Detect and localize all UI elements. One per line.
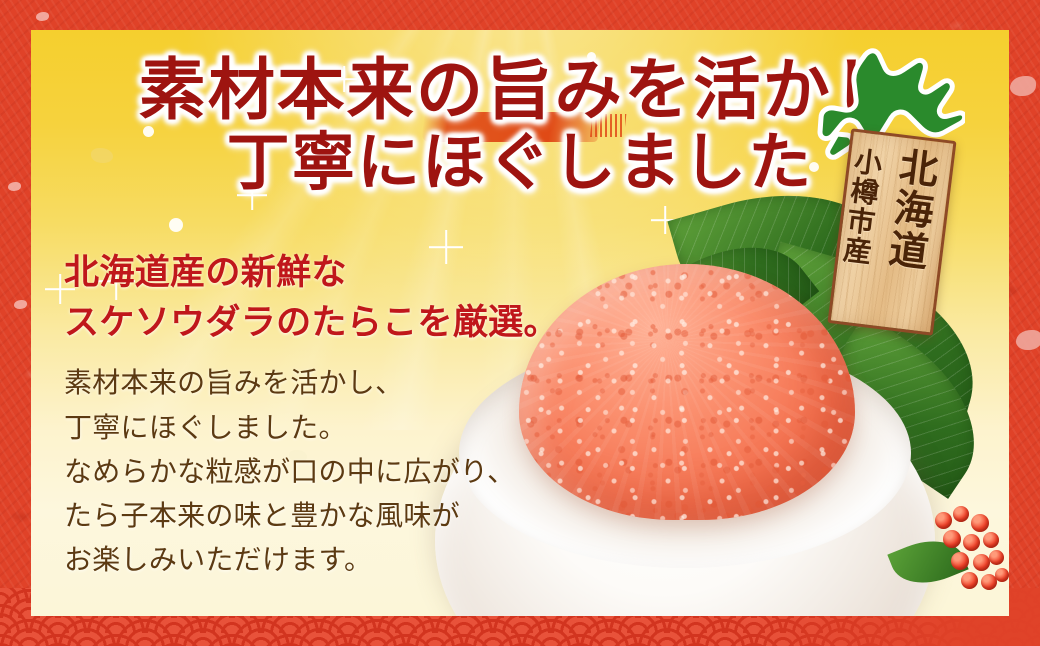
copy-block: 北海道産の新鮮な スケソウダラのたらこを厳選。 素材本来の旨みを活かし、 丁寧に…	[64, 248, 559, 583]
origin-badge: 北海道 小樽市産	[809, 46, 999, 376]
origin-wood-tag: 北海道 小樽市産	[827, 128, 956, 335]
lead-line-1: 北海道産の新鮮な	[64, 248, 559, 298]
ikura-bead	[943, 530, 961, 548]
description-line-2: 丁寧にほぐしました。	[64, 406, 559, 450]
lead-line-2: スケソウダラのたらこを厳選。	[64, 298, 559, 348]
ikura-bead	[973, 554, 990, 571]
product-banner: 素材本来の旨みを活かし 丁寧にほぐしました 北海道産の新鮮な スケソウダラのたら…	[0, 0, 1040, 646]
ikura-bead	[961, 572, 978, 589]
ikura-bead	[935, 512, 952, 529]
description-line-1: 素材本来の旨みを活かし、	[64, 361, 559, 405]
bokeh-dot	[169, 218, 183, 232]
ikura-bead	[971, 514, 989, 532]
content-panel: 素材本来の旨みを活かし 丁寧にほぐしました 北海道産の新鮮な スケソウダラのたら…	[31, 30, 1009, 616]
ikura-bead	[989, 550, 1004, 565]
description-line-4: たら子本来の味と豊かな風味が	[64, 494, 559, 538]
ikura-garnish	[891, 504, 1009, 616]
description-line-5: お楽しみいただけます。	[64, 538, 559, 582]
ikura-bead	[995, 568, 1009, 582]
ikura-bead	[953, 506, 969, 522]
ikura-bead	[963, 534, 980, 551]
petal-fleck	[1016, 330, 1040, 350]
ikura-bead	[951, 552, 969, 570]
ikura-bead	[983, 532, 999, 548]
description-line-3: なめらかな粒感が口の中に広がり、	[64, 450, 559, 494]
